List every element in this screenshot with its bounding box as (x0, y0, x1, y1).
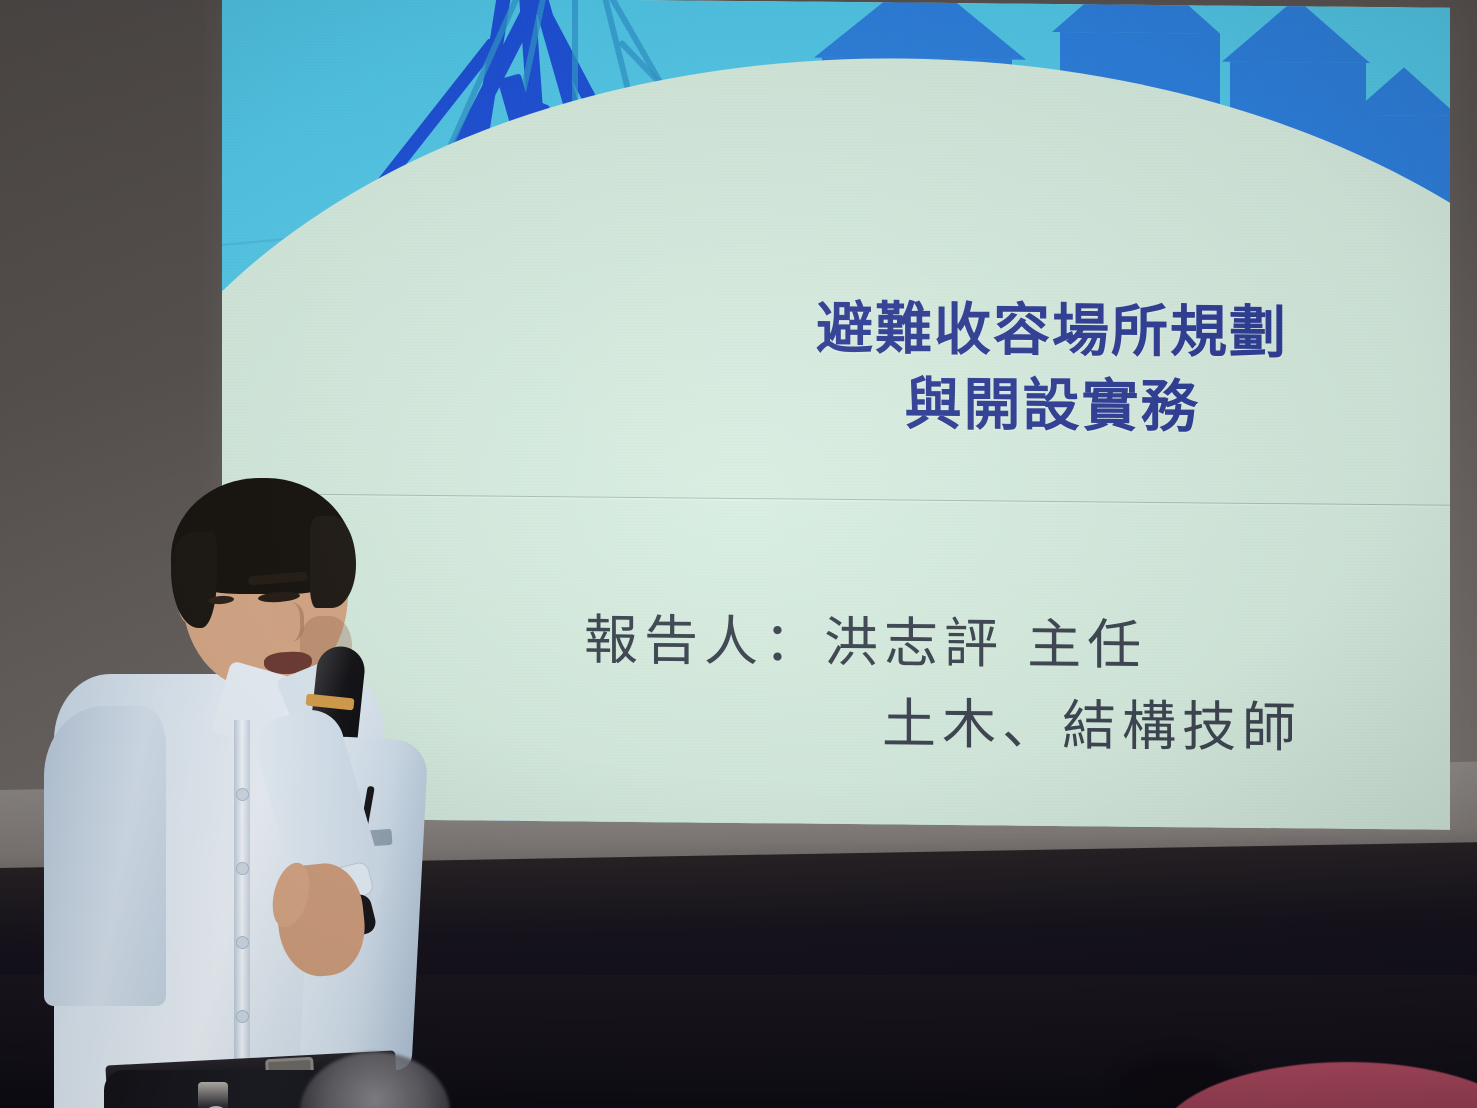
presenter-shirt-placket (234, 720, 250, 1108)
slide-title-line-2: 與開設實務 (702, 366, 1402, 448)
slide-title: 避難收容場所規劃 與開設實務 (702, 291, 1402, 448)
slide-subtitle-line-1: 報告人：洪志評 主任 (522, 599, 1450, 689)
slide-subtitle-line-2: 土木、結構技師 (522, 680, 1450, 770)
house-icon (814, 0, 1026, 60)
presenter-left-shoulder (44, 706, 166, 1006)
keychain-icon (198, 1082, 228, 1108)
house-icon (1052, 0, 1220, 34)
slide-title-line-1: 避難收容場所規劃 (702, 291, 1402, 373)
presenter-figure (52, 470, 452, 1108)
shirt-button (236, 788, 249, 801)
presenter-hair-side (171, 532, 217, 628)
presentation-photo-scene: 避難收容場所規劃 與開設實務 報告人：洪志評 主任 土木、結構技師 (0, 0, 1477, 1108)
slide-subtitle: 報告人：洪志評 主任 土木、結構技師 (522, 599, 1450, 770)
house-icon (1350, 67, 1450, 116)
shirt-button (236, 1010, 249, 1023)
house-icon (1222, 0, 1370, 63)
presenter-nose (272, 602, 304, 642)
presenter-hair-temple (310, 516, 356, 608)
shirt-button (236, 936, 249, 949)
shirt-button (236, 862, 249, 875)
